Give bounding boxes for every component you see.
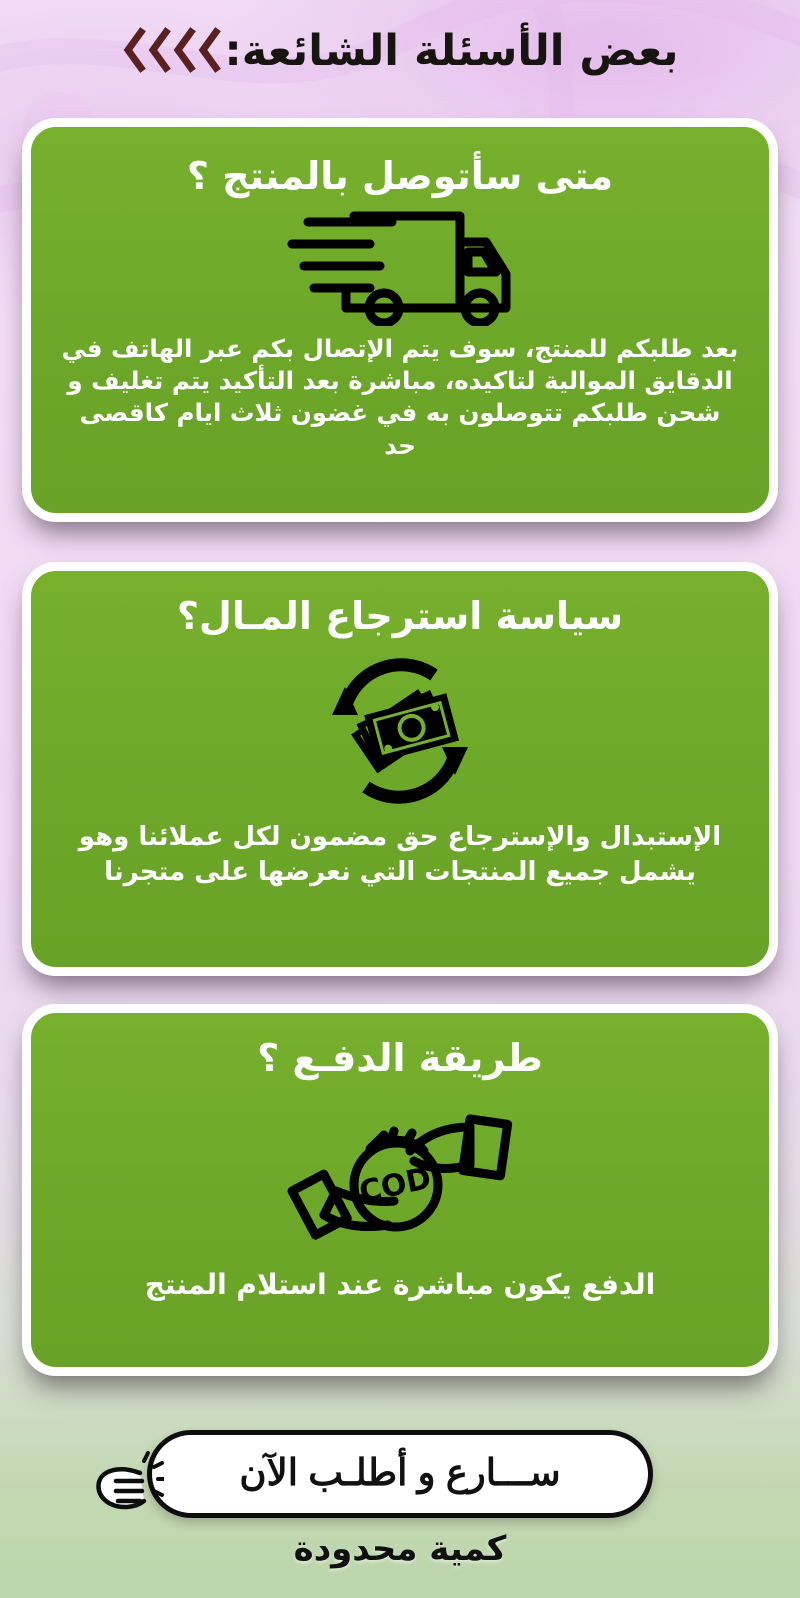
cta-row: ســـارع و أطلـب الآن — [0, 1426, 800, 1522]
faq-card-title: سياسة استرجاع المـال؟ — [31, 571, 769, 639]
chevron-left-icon — [172, 27, 196, 73]
faq-card-refund: سياسة استرجاع المـال؟ — [22, 562, 778, 976]
faq-card-body: الدفع يكون مباشرة عند استلام المنتج — [31, 1249, 769, 1304]
header-chevron-group — [122, 27, 221, 73]
page-header: بعض الأسئلة الشائعة: — [0, 6, 800, 98]
faq-card-body: الإستبدال والإسترجاع حق مضمون لكل عملائن… — [31, 814, 769, 891]
limited-quantity-note: كمية محدودة — [0, 1532, 800, 1566]
order-now-label: ســـارع و أطلـب الآن — [239, 1454, 560, 1491]
faq-infographic-page: بعض الأسئلة الشائعة: متى سأتوصل بالمنتج … — [0, 0, 800, 1598]
faq-card-title: طريقة الدفـع ؟ — [31, 1013, 769, 1081]
cash-on-delivery-icon: COD — [31, 1089, 769, 1249]
delivery-truck-icon — [31, 207, 769, 327]
chevron-left-icon — [197, 27, 221, 73]
cod-label: COD — [356, 1161, 434, 1210]
money-back-icon — [31, 649, 769, 814]
order-now-button[interactable]: ســـارع و أطلـب الآن — [147, 1430, 653, 1518]
pointing-hand-icon — [86, 1447, 164, 1519]
faq-card-delivery: متى سأتوصل بالمنتج ؟ — [22, 118, 778, 522]
faq-card-payment: طريقة الدفـع ؟ COD — [22, 1004, 778, 1376]
page-title: بعض الأسئلة الشائعة: — [225, 30, 679, 73]
chevron-left-icon — [122, 27, 146, 73]
faq-card-body: بعد طلبكم للمنتج، سوف يتم الإتصال بكم عب… — [31, 327, 769, 462]
faq-card-title: متى سأتوصل بالمنتج ؟ — [31, 127, 769, 199]
chevron-left-icon — [147, 27, 171, 73]
